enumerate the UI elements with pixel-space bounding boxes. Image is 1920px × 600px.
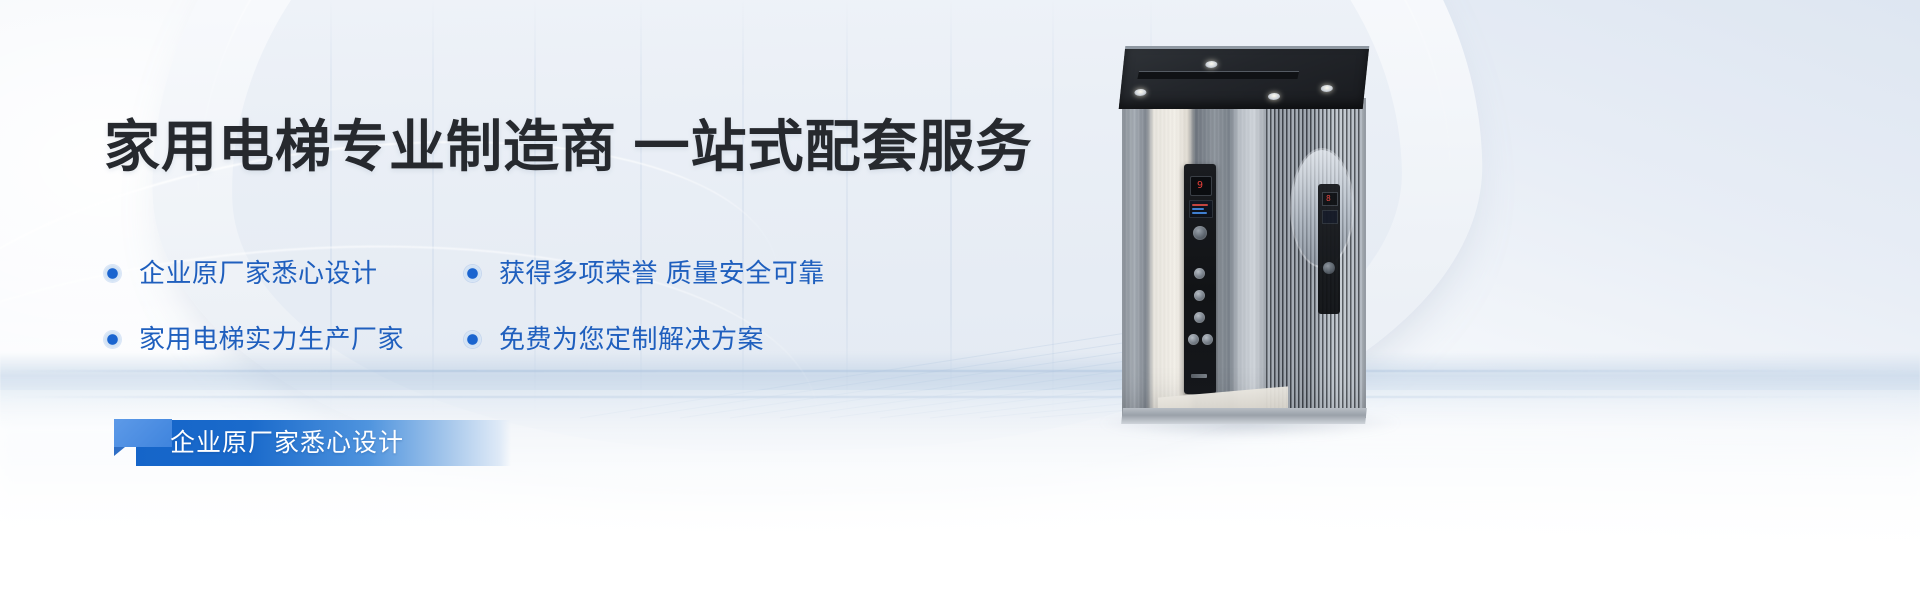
floor-display: 9 xyxy=(1190,176,1212,196)
secondary-floor-display: 8 xyxy=(1322,192,1338,206)
highlight-tag: 企业原厂家悉心设计 xyxy=(104,412,744,474)
bullet-dot-icon xyxy=(464,265,481,282)
secondary-floor-value: 8 xyxy=(1326,194,1331,204)
feature-item-2: 获得多项荣誉 质量安全可靠 xyxy=(464,258,964,288)
promo-banner: 9 8 xyxy=(0,0,1920,600)
bullet-dot-icon xyxy=(104,331,121,348)
ceiling-spotlight-4 xyxy=(1320,85,1333,92)
feature-item-4: 免费为您定制解决方案 xyxy=(464,324,964,354)
feature-label-1: 企业原厂家悉心设计 xyxy=(139,258,378,288)
ceiling-spotlight-1 xyxy=(1134,89,1147,96)
ceiling-spotlight-2 xyxy=(1205,61,1218,68)
feature-label-4: 免费为您定制解决方案 xyxy=(499,324,764,354)
feature-list: 企业原厂家悉心设计 获得多项荣誉 质量安全可靠 家用电梯实力生产厂家 免费为您定… xyxy=(104,258,964,354)
door-close-button xyxy=(1202,334,1213,345)
feature-item-3: 家用电梯实力生产厂家 xyxy=(104,324,464,354)
bullet-dot-icon xyxy=(104,265,121,282)
panel-brand-logo xyxy=(1191,374,1207,378)
secondary-key-switch xyxy=(1323,262,1335,274)
elevator-ceiling xyxy=(1119,46,1370,109)
floor-button-2 xyxy=(1194,290,1205,301)
panel-lcd-screen xyxy=(1189,200,1213,218)
ceiling-vent-slot xyxy=(1137,71,1299,79)
ceiling-spotlight-3 xyxy=(1268,93,1281,100)
door-open-button xyxy=(1188,334,1199,345)
floor-button-1 xyxy=(1194,268,1205,279)
elevator-base-trim xyxy=(1121,408,1367,424)
floor-button-3 xyxy=(1194,312,1205,323)
feature-row-2: 家用电梯实力生产厂家 免费为您定制解决方案 xyxy=(104,324,964,354)
highlight-tag-label: 企业原厂家悉心设计 xyxy=(170,420,404,466)
secondary-lcd-screen xyxy=(1322,210,1338,224)
banner-content: 家用电梯专业制造商 一站式配套服务 企业原厂家悉心设计 获得多项荣誉 质量安全可… xyxy=(0,0,1120,600)
elevator-secondary-panel: 8 xyxy=(1318,184,1340,314)
feature-row-1: 企业原厂家悉心设计 获得多项荣誉 质量安全可靠 xyxy=(104,258,964,288)
feature-label-3: 家用电梯实力生产厂家 xyxy=(139,324,404,354)
bullet-dot-icon xyxy=(464,331,481,348)
feature-label-2: 获得多项荣誉 质量安全可靠 xyxy=(499,258,825,288)
page-title: 家用电梯专业制造商 一站式配套服务 xyxy=(104,116,1033,178)
elevator-control-panel: 9 xyxy=(1184,164,1216,394)
elevator-product-image: 9 8 xyxy=(1122,46,1366,418)
ribbon-flag-icon xyxy=(114,419,172,447)
panel-key-switch xyxy=(1193,226,1207,240)
floor-display-value: 9 xyxy=(1197,180,1203,192)
elevator-cabin-body: 9 8 xyxy=(1122,98,1366,418)
feature-item-1: 企业原厂家悉心设计 xyxy=(104,258,464,288)
